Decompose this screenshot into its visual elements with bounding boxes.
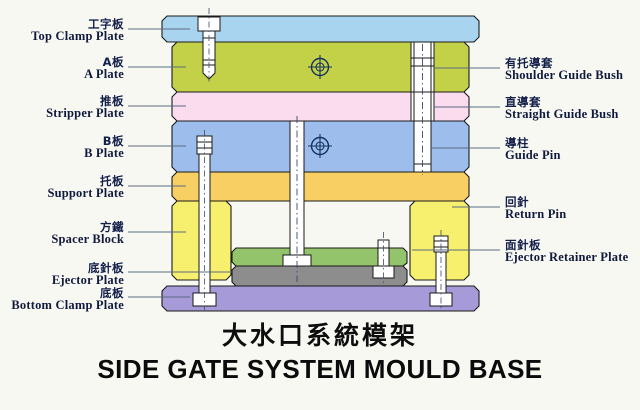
label-en: Top Clamp Plate [0, 30, 124, 44]
label-support-plate: 托板 Support Plate [0, 175, 124, 201]
label-en: Shoulder Guide Bush [505, 69, 640, 83]
label-en: Guide Pin [505, 149, 640, 163]
label-en: B Plate [0, 147, 124, 161]
label-a-plate: A板 A Plate [0, 56, 124, 82]
label-en: Bottom Clamp Plate [0, 299, 124, 313]
label-en: Return Pin [505, 208, 640, 222]
title-cn: 大水口系統模架 [0, 316, 640, 352]
label-en: Spacer Block [0, 233, 124, 247]
title-en: SIDE GATE SYSTEM MOULD BASE [0, 354, 640, 385]
label-spacer-block: 方鐵 Spacer Block [0, 221, 124, 247]
label-ejector-retainer-plate: 面針板 Ejector Retainer Plate [505, 239, 640, 265]
label-guide-pin: 導柱 Guide Pin [505, 137, 640, 163]
label-ejector-plate: 底針板 Ejector Plate [0, 262, 124, 288]
label-straight-guide-bush: 直導套 Straight Guide Bush [505, 96, 640, 122]
label-shoulder-guide-bush: 有托導套 Shoulder Guide Bush [505, 57, 640, 83]
label-return-pin: 回針 Return Pin [505, 196, 640, 222]
label-bottom-clamp-plate: 底板 Bottom Clamp Plate [0, 287, 124, 313]
label-stripper-plate: 推板 Stripper Plate [0, 95, 124, 121]
label-en: Straight Guide Bush [505, 108, 640, 122]
label-en: Stripper Plate [0, 107, 124, 121]
label-en: Ejector Retainer Plate [505, 251, 640, 265]
plate-support-plate [172, 172, 469, 201]
label-b-plate: B板 B Plate [0, 135, 124, 161]
label-en: Support Plate [0, 187, 124, 201]
label-top-clamp-plate: 工字板 Top Clamp Plate [0, 18, 124, 44]
diagram-title: 大水口系統模架 SIDE GATE SYSTEM MOULD BASE [0, 316, 640, 385]
mould-base-diagram: 工字板 Top Clamp Plate A板 A Plate 推板 Stripp… [0, 0, 640, 410]
label-en: A Plate [0, 68, 124, 82]
